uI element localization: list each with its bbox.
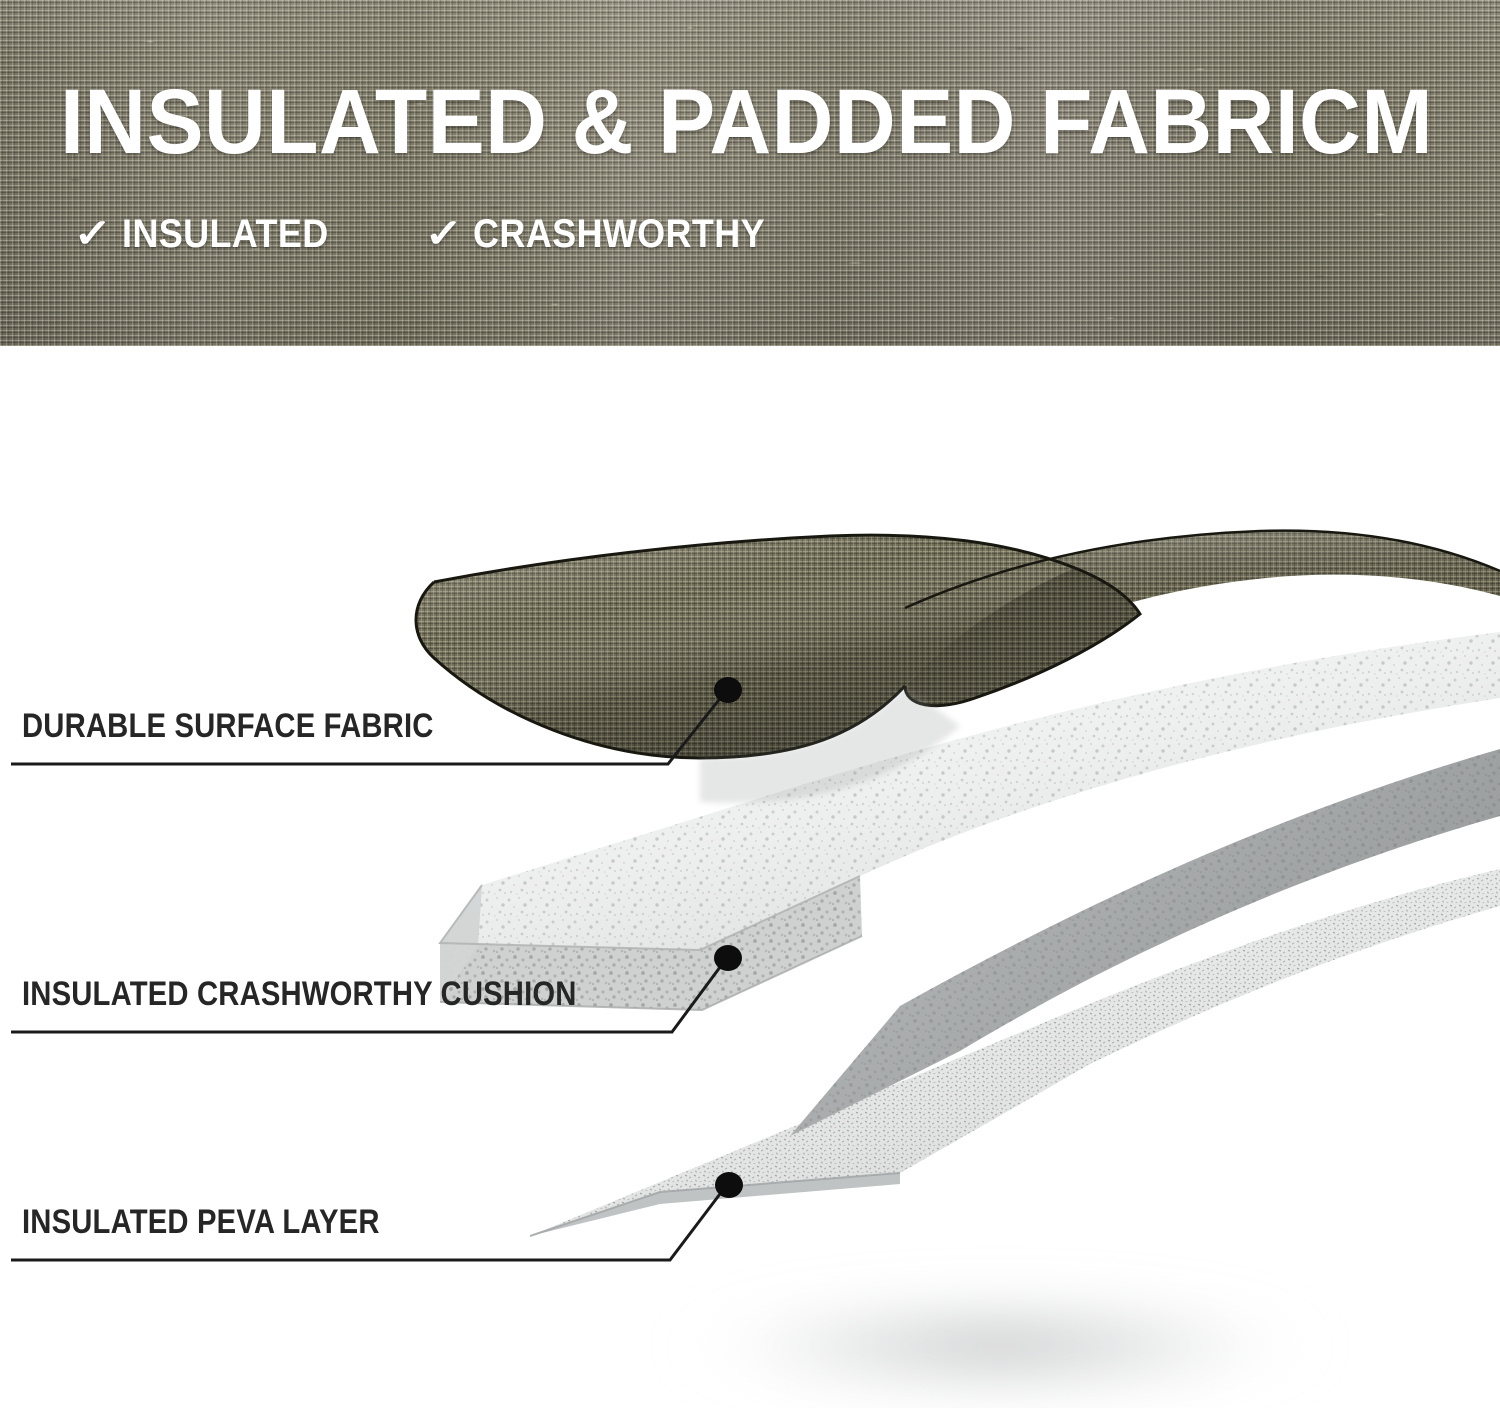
ground-shadow: [670, 1294, 1330, 1398]
checkmark-icon: ✓: [425, 212, 464, 256]
page-title: INSULATED & PADDED FABRICM: [60, 74, 1433, 170]
feature-list: ✓ INSULATED ✓ CRASHWORTHY: [76, 212, 798, 256]
header-fabric-banner: INSULATED & PADDED FABRICM ✓ INSULATED ✓…: [0, 0, 1500, 346]
product-infographic: INSULATED & PADDED FABRICM ✓ INSULATED ✓…: [0, 0, 1500, 1408]
callout-dot-2: [714, 945, 742, 971]
callout-label-insulated-peva-layer: INSULATED PEVA LAYER: [22, 1204, 380, 1240]
fabric-texture-vignette: [0, 0, 1500, 346]
callout-label-durable-surface-fabric: DURABLE SURFACE FABRIC: [22, 708, 434, 744]
feature-crashworthy: ✓ CRASHWORTHY: [427, 212, 797, 256]
checkmark-icon: ✓: [73, 212, 112, 256]
feature-insulated: ✓ INSULATED: [76, 212, 351, 256]
callout-dot-3: [715, 1172, 743, 1198]
feature-label: INSULATED: [122, 212, 329, 256]
layer-diagram: DURABLE SURFACE FABRIC INSULATED CRASHWO…: [0, 346, 1500, 1408]
layer-diagram-svg: [0, 346, 1500, 1408]
callout-dot-1: [714, 677, 742, 703]
callout-label-insulated-crashworthy-cushion: INSULATED CRASHWORTHY CUSHION: [22, 976, 577, 1012]
feature-label: CRASHWORTHY: [473, 212, 765, 256]
